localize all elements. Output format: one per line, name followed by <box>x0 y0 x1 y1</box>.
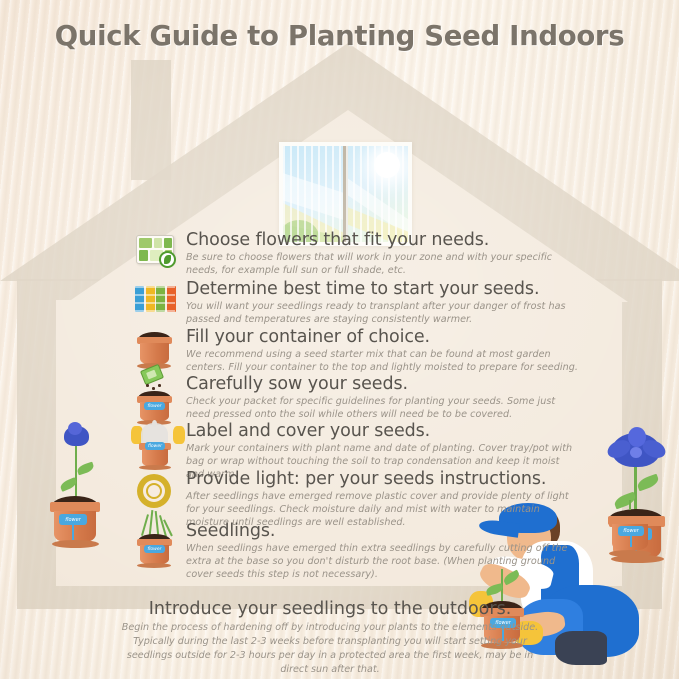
seedlings-pot-icon: flower <box>133 510 183 560</box>
step-heading: Determine best time to start your seeds. <box>186 280 578 300</box>
step-heading: Label and cover your seeds. <box>186 422 578 442</box>
step-heading: Choose flowers that fit your needs. <box>186 231 578 251</box>
step-body: When seedlings have emerged thin extra s… <box>186 542 578 581</box>
footer-heading: Introduce your seedlings to the outdoors… <box>120 600 540 619</box>
flower-petal <box>628 427 646 447</box>
step-item: flower Seedlings. When seedlings have em… <box>133 522 578 582</box>
sowing-seeds-icon: flower <box>133 375 183 425</box>
flower-bloom-highlight <box>68 422 82 435</box>
page-title: Quick Guide to Planting Seed Indoors <box>0 20 679 52</box>
seed-catalog-icon <box>133 231 183 281</box>
step-body: You will want your seedlings ready to tr… <box>186 300 578 326</box>
covered-pot-gloves-icon: flower <box>133 422 183 472</box>
flower-leaf <box>636 474 660 492</box>
step-heading: Provide light: per your seeds instructio… <box>186 470 578 490</box>
step-item: flower Carefully sow your seeds. Check y… <box>133 375 578 422</box>
infographic-poster: flower flower flower <box>0 0 679 679</box>
steps-list: Choose flowers that fit your needs. Be s… <box>133 231 578 582</box>
step-item: Provide light: per your seeds instructio… <box>133 470 578 522</box>
potted-blue-flower-small: flower <box>46 418 108 558</box>
footer-body: Begin the process of hardening off by in… <box>120 621 540 677</box>
step-body: Check your packet for specific guideline… <box>186 395 578 421</box>
gardener-boot <box>555 631 607 665</box>
step-heading: Seedlings. <box>186 522 578 542</box>
footer-section: Introduce your seedlings to the outdoors… <box>120 600 540 677</box>
seed-packets-icon <box>133 280 183 330</box>
step-item: Choose flowers that fit your needs. Be s… <box>133 231 578 280</box>
step-body: Be sure to choose flowers that will work… <box>186 251 578 277</box>
step-item: flower Label and cover your seeds. Mark … <box>133 422 578 470</box>
step-item: Fill your container of choice. We recomm… <box>133 328 578 375</box>
step-heading: Carefully sow your seeds. <box>186 375 578 395</box>
flower-center <box>630 447 642 458</box>
flower-leaf <box>76 462 95 476</box>
pot-saucer <box>52 540 99 548</box>
step-heading: Fill your container of choice. <box>186 328 578 348</box>
step-body: We recommend using a seed starter mix th… <box>186 348 578 374</box>
step-item: Determine best time to start your seeds.… <box>133 280 578 328</box>
pot-label-stem <box>72 524 74 540</box>
